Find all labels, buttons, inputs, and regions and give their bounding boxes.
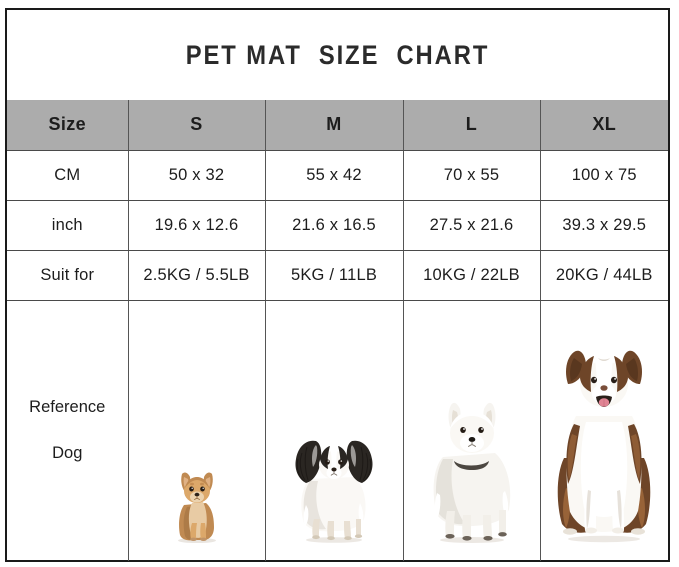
- cell-dog-xl: [540, 300, 668, 561]
- cell-suit-s: 2.5KG / 5.5LB: [128, 250, 265, 300]
- cell-suit-m: 5KG / 11LB: [265, 250, 403, 300]
- table-row-cm: CM 50 x 32 55 x 42 70 x 55 100 x 75: [7, 150, 668, 200]
- cell-suit-xl: 20KG / 44LB: [540, 250, 668, 300]
- header-cell-xl: XL: [540, 100, 668, 150]
- chihuahua-icon: [167, 465, 227, 543]
- papillon-icon: [286, 431, 382, 543]
- table-row-inch: inch 19.6 x 12.6 21.6 x 16.5 27.5 x 21.6…: [7, 200, 668, 250]
- reference-dog-label: Reference Dog: [7, 385, 128, 476]
- table-body: CM 50 x 32 55 x 42 70 x 55 100 x 75 inch…: [7, 150, 668, 561]
- cell-dog-m: [265, 300, 403, 561]
- size-chart-sheet: PET MAT SIZE CHART Size S M L XL CM: [0, 0, 679, 567]
- row-label-reference-dog: Reference Dog: [7, 300, 128, 561]
- header-cell-m: M: [265, 100, 403, 150]
- cell-cm-s: 50 x 32: [128, 150, 265, 200]
- cell-dog-s: [128, 300, 265, 561]
- header-row: Size S M L XL: [7, 100, 668, 150]
- size-table-container: Size S M L XL CM 50 x 32 55 x 42 70 x 55…: [5, 100, 670, 562]
- cell-cm-l: 70 x 55: [403, 150, 540, 200]
- cell-suit-l: 10KG / 22LB: [403, 250, 540, 300]
- cell-cm-m: 55 x 42: [265, 150, 403, 200]
- header-cell-l: L: [403, 100, 540, 150]
- cell-inch-s: 19.6 x 12.6: [128, 200, 265, 250]
- row-label-suit-for: Suit for: [7, 250, 128, 300]
- cell-dog-l: [403, 300, 540, 561]
- table-header: Size S M L XL: [7, 100, 668, 150]
- west-highland-terrier-icon: [419, 395, 525, 543]
- row-label-cm: CM: [7, 150, 128, 200]
- table-row-suit-for: Suit for 2.5KG / 5.5LB 5KG / 11LB 10KG /…: [7, 250, 668, 300]
- cell-cm-xl: 100 x 75: [540, 150, 668, 200]
- page-title: PET MAT SIZE CHART: [186, 40, 490, 71]
- cell-inch-xl: 39.3 x 29.5: [540, 200, 668, 250]
- row-label-inch: inch: [7, 200, 128, 250]
- cell-inch-m: 21.6 x 16.5: [265, 200, 403, 250]
- cell-inch-l: 27.5 x 21.6: [403, 200, 540, 250]
- header-cell-s: S: [128, 100, 265, 150]
- size-table: Size S M L XL CM 50 x 32 55 x 42 70 x 55…: [7, 100, 668, 561]
- title-band: PET MAT SIZE CHART: [5, 8, 670, 100]
- header-cell-size: Size: [7, 100, 128, 150]
- table-row-reference-dog: Reference Dog: [7, 300, 668, 561]
- border-collie-icon: [548, 338, 660, 543]
